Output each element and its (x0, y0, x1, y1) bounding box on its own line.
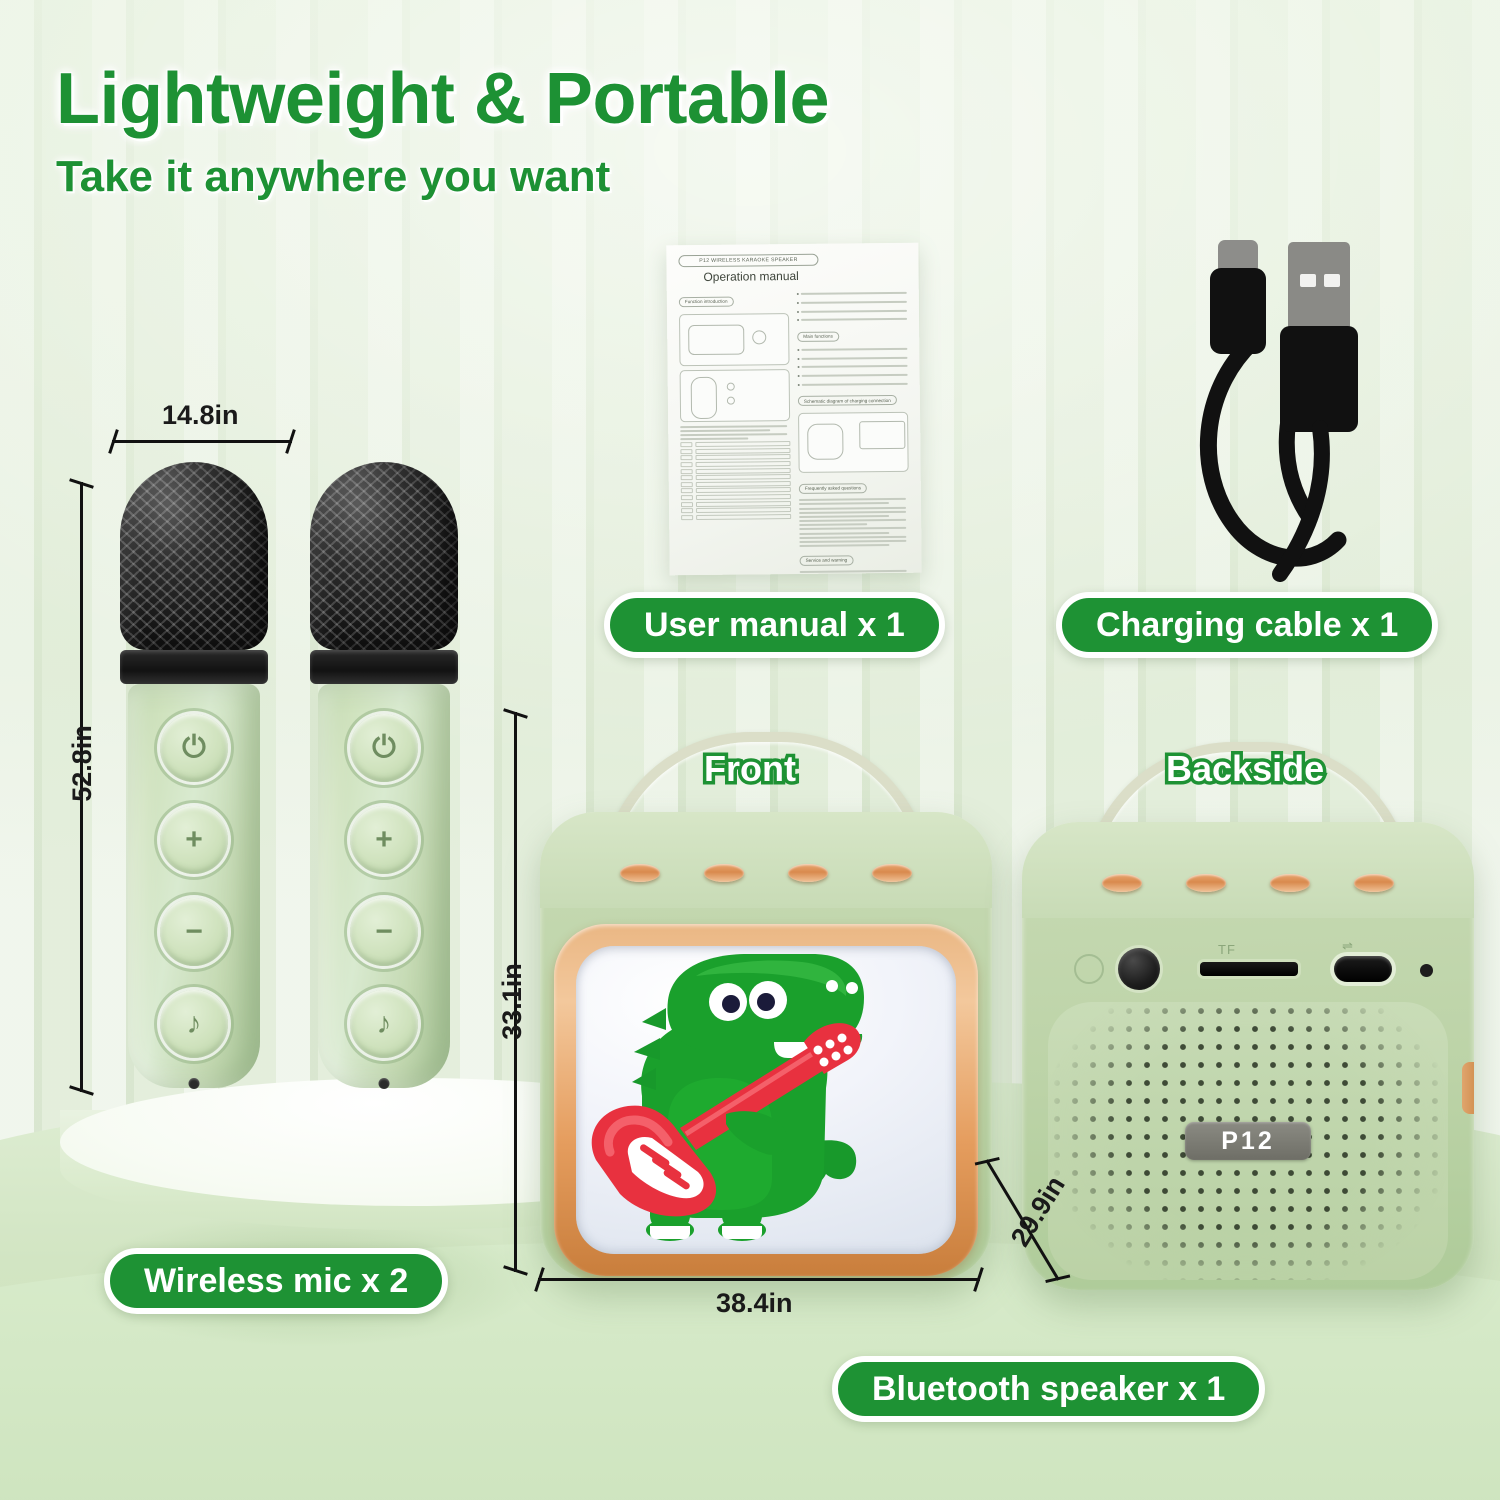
microphone-icon[interactable]: ♪ (160, 990, 228, 1058)
minus-icon[interactable]: − (350, 898, 418, 966)
mic-grille-head (120, 462, 268, 650)
mic-body: ⏻ + − ♪ (128, 684, 260, 1088)
user-manual-sheet: P12 WIRELESS KARAOKE SPEAKER Operation m… (666, 243, 921, 576)
manual-section-heading: Frequently asked questions (799, 483, 867, 494)
mic-body: ⏻ + − ♪ (318, 684, 450, 1088)
manual-column-left: Function introduction (679, 289, 793, 575)
badge-charging-cable: Charging cable x 1 (1056, 592, 1438, 658)
speaker-gold-bezel (554, 924, 978, 1276)
usb-c-port-icon[interactable] (1334, 956, 1392, 982)
wireless-microphone-left[interactable]: ⏻ + − ♪ (120, 462, 268, 1088)
speaker-top-button-3[interactable] (1270, 874, 1310, 892)
speaker-top-button-1[interactable] (1102, 874, 1142, 892)
plus-icon[interactable]: + (160, 806, 228, 874)
speaker-body (540, 812, 992, 1280)
mic-collar (120, 650, 268, 684)
page-subtitle: Take it anywhere you want (56, 152, 829, 202)
speaker-front-panel (576, 946, 956, 1254)
speaker-port-row: TF ⇌ (1022, 942, 1474, 998)
led-indicator-icon (189, 1078, 200, 1089)
speaker-side-accent (1462, 1062, 1474, 1114)
speaker-top-button-4[interactable] (872, 864, 912, 882)
usb-c-port-label: ⇌ (1342, 938, 1353, 954)
dimension-label-speaker-height: 33.1in (497, 963, 528, 1040)
speaker-body: TF ⇌ P12 (1022, 822, 1474, 1290)
dimension-label-speaker-width: 38.4in (716, 1288, 793, 1319)
wireless-microphone-right[interactable]: ⏻ + − ♪ (310, 462, 458, 1088)
aux-jack-icon[interactable] (1118, 948, 1160, 990)
aux-jack-ring-icon (1074, 954, 1104, 984)
led-indicator-icon (1420, 964, 1433, 977)
view-label-front: Front (704, 748, 796, 790)
speaker-top-button-2[interactable] (704, 864, 744, 882)
speaker-top-button-2[interactable] (1186, 874, 1226, 892)
manual-figure-device-top (679, 313, 790, 366)
manual-section-heading: Function introduction (679, 296, 734, 307)
tf-card-slot-icon[interactable] (1200, 962, 1298, 976)
mic-grille-head (310, 462, 458, 650)
manual-section-heading: Service and warning (800, 555, 854, 566)
product-infographic: Lightweight & Portable Take it anywhere … (0, 0, 1500, 1500)
mic-collar (310, 650, 458, 684)
manual-section-heading: Schematic diagram of charging connection (798, 395, 897, 406)
charging-cable (1160, 222, 1420, 582)
power-icon[interactable]: ⏻ (350, 714, 418, 782)
speaker-top-button-4[interactable] (1354, 874, 1394, 892)
power-icon[interactable]: ⏻ (160, 714, 228, 782)
manual-section-heading: Main functions (797, 331, 839, 341)
manual-figure-charging (798, 412, 909, 473)
speaker-top-buttons[interactable] (1022, 874, 1474, 892)
badge-bluetooth-speaker: Bluetooth speaker x 1 (832, 1356, 1265, 1422)
page-title: Lightweight & Portable (56, 62, 829, 138)
speaker-top-buttons[interactable] (540, 864, 992, 882)
usb-a-connector (1280, 242, 1358, 432)
speaker-top-button-1[interactable] (620, 864, 660, 882)
dimension-label-mic-height: 52.8in (67, 725, 98, 802)
speaker-top-panel (540, 812, 992, 908)
badge-wireless-mic: Wireless mic x 2 (104, 1248, 448, 1314)
badge-user-manual: User manual x 1 (604, 592, 945, 658)
manual-brand-line: P12 WIRELESS KARAOKE SPEAKER (678, 254, 818, 267)
manual-figure-mic (680, 369, 791, 422)
microphone-icon[interactable]: ♪ (350, 990, 418, 1058)
led-indicator-icon (379, 1078, 390, 1089)
manual-columns: Function introduction (679, 288, 911, 575)
bluetooth-speaker-back-view: TF ⇌ P12 (1022, 742, 1474, 1270)
tf-card-slot-label: TF (1218, 942, 1236, 957)
minus-icon[interactable]: − (160, 898, 228, 966)
manual-column-right: Main functions Schematic diagram of char… (797, 288, 911, 575)
usb-c-connector (1210, 240, 1266, 354)
bluetooth-speaker-front-view (540, 732, 992, 1280)
speaker-top-button-3[interactable] (788, 864, 828, 882)
dimension-line-speaker-width (538, 1278, 980, 1281)
plus-icon[interactable]: + (350, 806, 418, 874)
view-label-backside: Backside (1166, 748, 1324, 790)
speaker-top-panel (1022, 822, 1474, 918)
headline-block: Lightweight & Portable Take it anywhere … (56, 62, 829, 202)
dinosaur-guitar-icon (576, 946, 956, 1254)
model-name-plate: P12 (1185, 1122, 1311, 1160)
manual-title: Operation manual (679, 269, 824, 285)
dimension-label-mic-width: 14.8in (162, 400, 239, 431)
dimension-line-mic-width (112, 440, 292, 443)
